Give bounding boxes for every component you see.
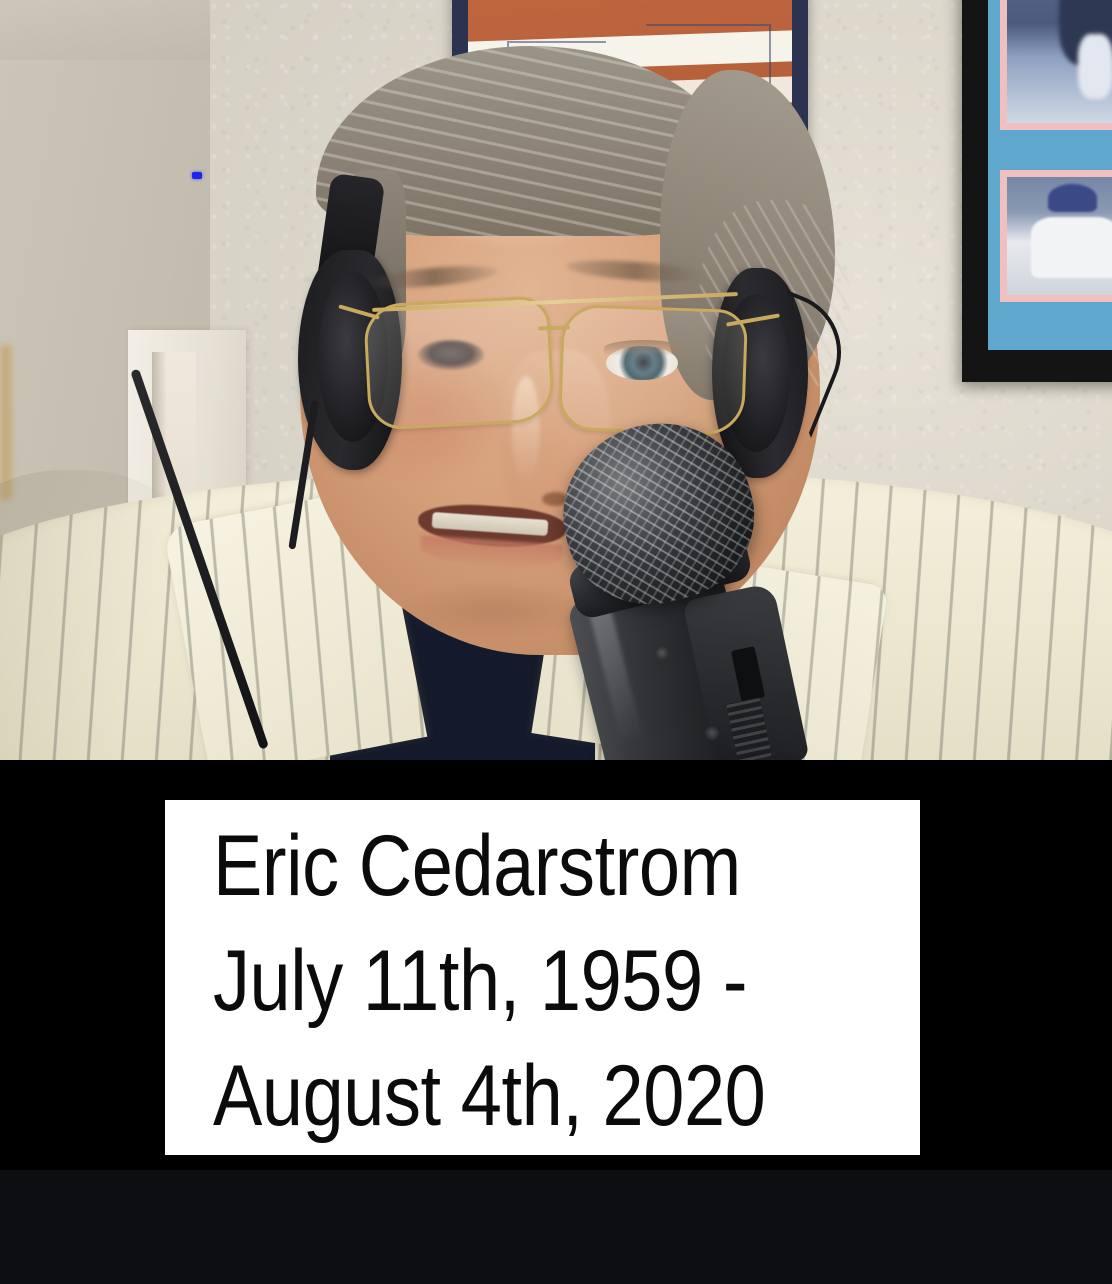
video-frame: RadioShack Eric Cedarstrom July 11th, 19… bbox=[0, 0, 1112, 1284]
collage-mat bbox=[988, 0, 1112, 350]
eyeglass-lens-right bbox=[558, 304, 748, 436]
caption-line-death: August 4th, 2020 bbox=[213, 1039, 821, 1154]
footer-band bbox=[0, 1170, 1112, 1284]
memorial-caption-card: Eric Cedarstrom July 11th, 1959 - August… bbox=[165, 800, 920, 1155]
collage-photo-portrait bbox=[1000, 170, 1112, 302]
microphone-screw bbox=[705, 726, 719, 740]
caption-line-name: Eric Cedarstrom bbox=[213, 809, 821, 924]
chin-shadow bbox=[396, 580, 596, 640]
caption-line-birth: July 11th, 1959 - bbox=[213, 924, 821, 1039]
eyeglass-lens-left bbox=[363, 295, 555, 431]
wall-accent-strip bbox=[0, 345, 12, 500]
collage-photo-action bbox=[1000, 0, 1112, 130]
blue-status-led-icon bbox=[192, 172, 202, 179]
framed-baseball-collage bbox=[962, 0, 1112, 382]
memorial-photo: RadioShack bbox=[0, 0, 1112, 760]
